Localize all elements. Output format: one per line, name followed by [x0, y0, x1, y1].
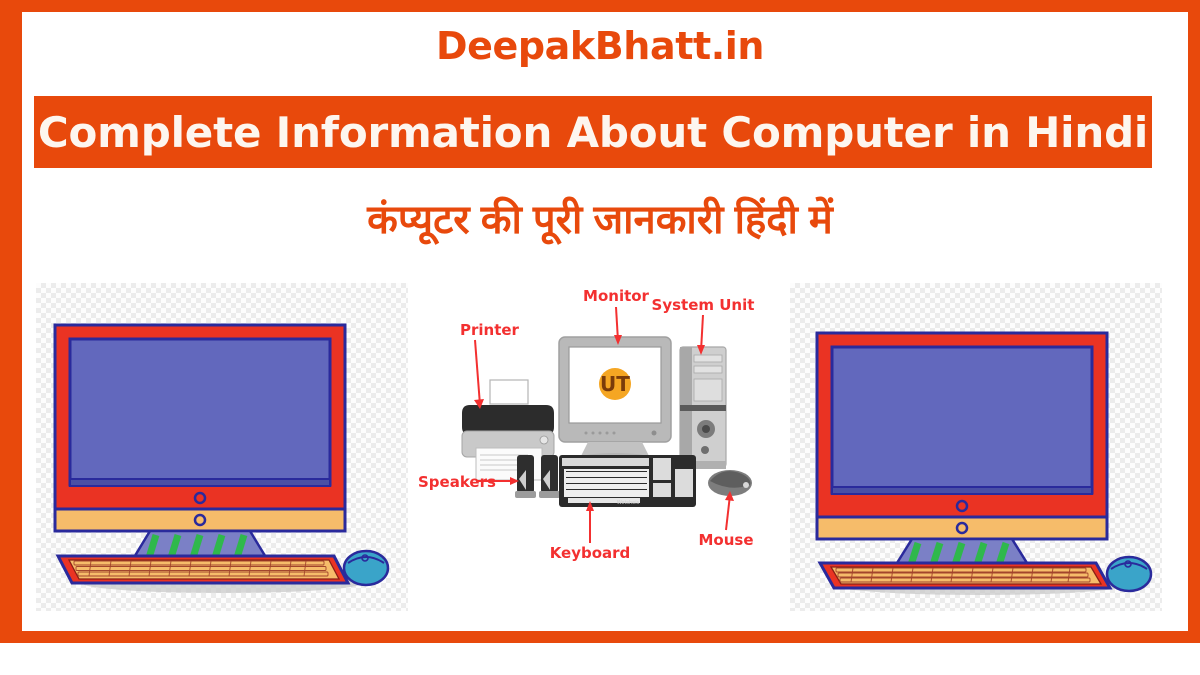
diagram-system-unit	[680, 347, 726, 469]
computer-parts-diagram-image: UT	[418, 283, 814, 611]
svg-text:UT: UT	[600, 372, 630, 396]
computer-parts-diagram-graphic: UT	[418, 283, 814, 611]
hindi-subtitle: कंप्यूटर की पूरी जानकारी हिंदी में	[0, 190, 1200, 245]
banner-title-text: Complete Information About Computer in H…	[38, 108, 1148, 157]
label-printer: Printer	[460, 321, 520, 339]
poster-canvas: DeepakBhatt.in Complete Information Abou…	[0, 0, 1200, 675]
label-mouse: Mouse	[698, 531, 753, 549]
desktop-computer-graphic-left	[36, 283, 408, 611]
images-row: UT	[22, 283, 1188, 611]
keyboard-brand-text: Wetsheis	[617, 500, 640, 506]
label-keyboard: Keyboard	[550, 544, 631, 562]
title-banner: Complete Information About Computer in H…	[34, 96, 1152, 168]
desktop-computer-graphic-right	[790, 283, 1162, 611]
label-system-unit: System Unit	[652, 296, 755, 314]
right-computer-image	[790, 283, 1162, 611]
left-computer-image	[36, 283, 408, 611]
label-speakers: Speakers	[418, 473, 496, 491]
label-monitor: Monitor	[583, 287, 650, 305]
diagram-keyboard: Wetsheis	[559, 455, 696, 507]
site-name-heading: DeepakBhatt.in	[0, 24, 1200, 68]
